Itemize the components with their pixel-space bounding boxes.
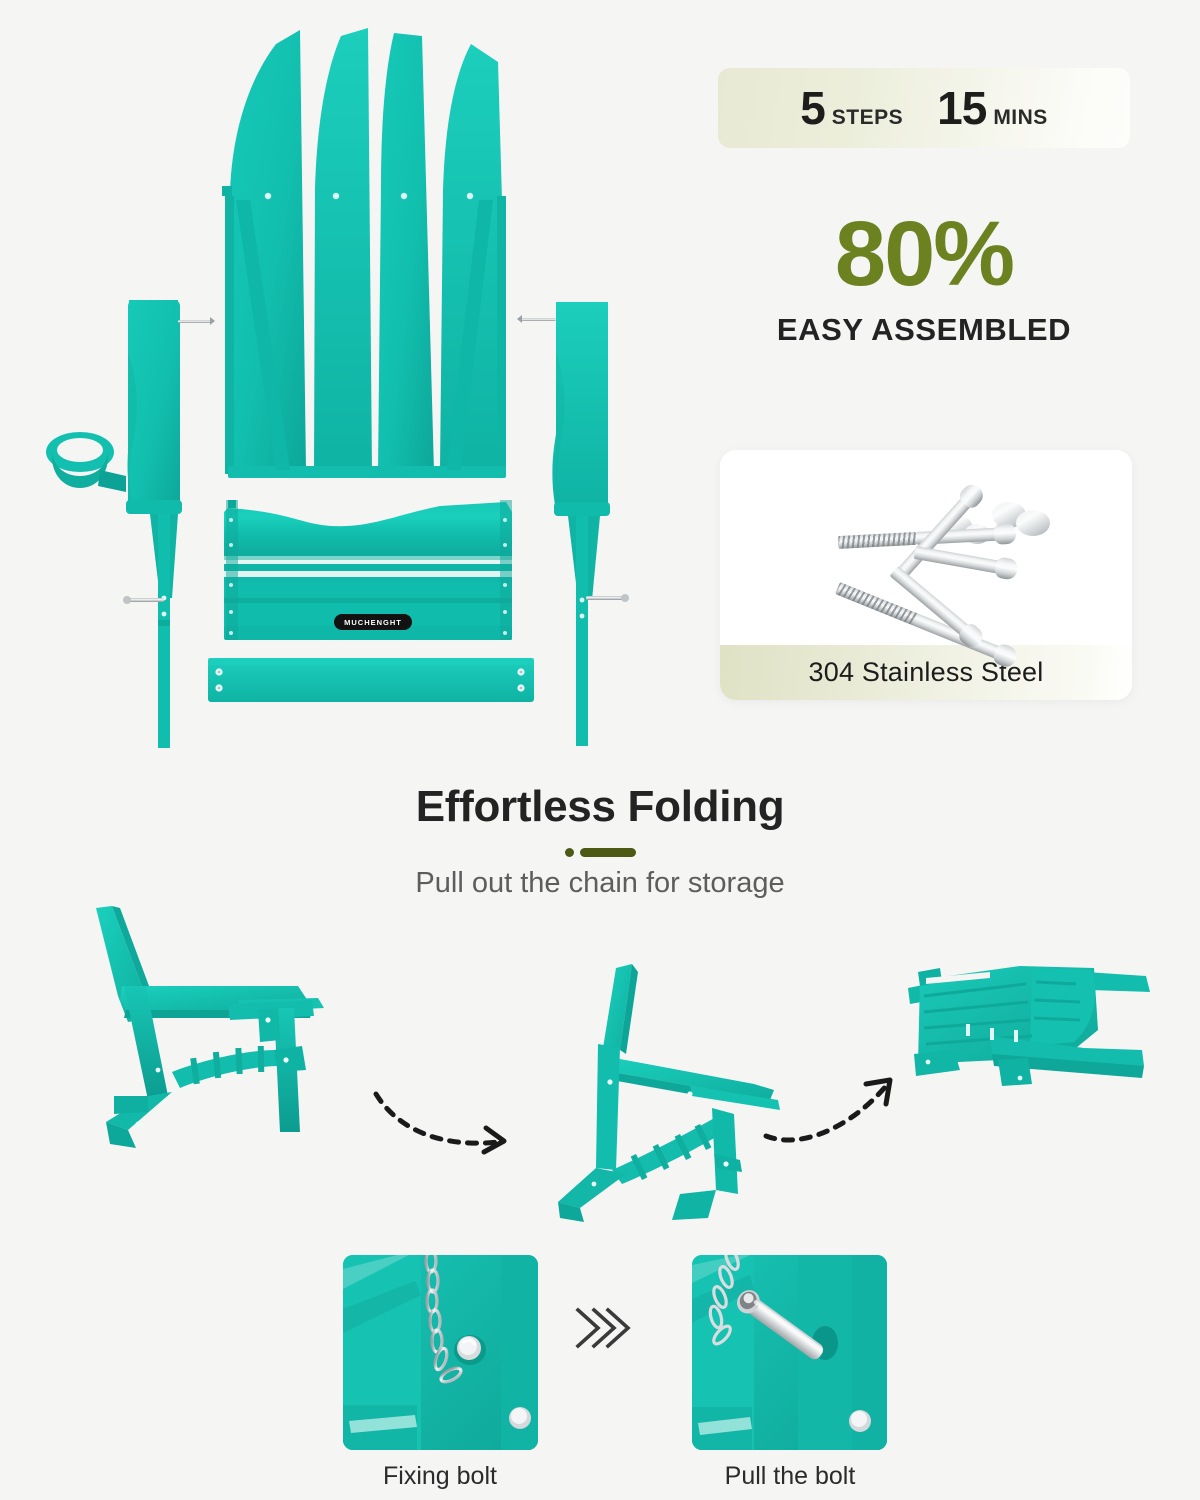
infographic-page: MUCHENGHT: [0, 0, 1200, 1500]
divider-dash-icon: [580, 848, 636, 857]
assembly-percent: 80%: [718, 208, 1130, 300]
detail-panel-fixing-bolt: [343, 1255, 538, 1450]
exploded-parts-svg: MUCHENGHT: [0, 0, 690, 760]
mins-unit: MINS: [993, 106, 1048, 130]
lower-bolt-icon: [849, 1410, 871, 1432]
brand-label: MUCHENGHT: [344, 618, 402, 627]
caption-pull-bolt: Pull the bolt: [670, 1462, 910, 1491]
steps-group: 5 STEPS: [800, 81, 903, 135]
caption-fixing-bolt: Fixing bolt: [320, 1462, 560, 1491]
folding-sequence: [0, 900, 1200, 1230]
fold-arrow-1: [368, 1086, 528, 1156]
lower-bolt-icon: [509, 1407, 531, 1429]
folding-title: Effortless Folding: [0, 782, 1200, 832]
steps-unit: STEPS: [832, 106, 903, 130]
chevron-arrows-icon: [572, 1300, 632, 1361]
mins-value: 15: [937, 81, 986, 135]
assembly-subtitle: EASY ASSEMBLED: [718, 312, 1130, 348]
assembly-percent-block: 80% EASY ASSEMBLED: [718, 208, 1130, 348]
exploded-parts-diagram: MUCHENGHT: [0, 0, 690, 760]
folding-heading-block: Effortless Folding Pull out the chain fo…: [0, 782, 1200, 900]
section-divider: [0, 848, 1200, 857]
seat-assembly: MUCHENGHT: [224, 500, 512, 640]
chair-folded-state: [880, 938, 1180, 1143]
hardware-card: 304 Stainless Steel: [720, 450, 1132, 700]
folding-subtitle: Pull out the chain for storage: [0, 867, 1200, 900]
steps-value: 5: [800, 81, 825, 135]
bottom-cross-rail: [208, 658, 534, 702]
divider-dot-icon: [565, 848, 574, 857]
left-arm-with-cupholder: [46, 300, 215, 748]
hardware-caption: 304 Stainless Steel: [720, 645, 1132, 700]
detail-panel-pull-bolt: [692, 1255, 887, 1450]
washer-icon: [1016, 510, 1050, 536]
cup-holder-ring: [46, 432, 126, 492]
chair-open-state: [62, 900, 382, 1165]
steps-time-badge: 5 STEPS 15 MINS: [718, 68, 1130, 148]
mins-group: 15 MINS: [937, 81, 1048, 135]
seated-bolt-icon: [454, 1335, 486, 1365]
hardware-photo: [720, 450, 1132, 645]
